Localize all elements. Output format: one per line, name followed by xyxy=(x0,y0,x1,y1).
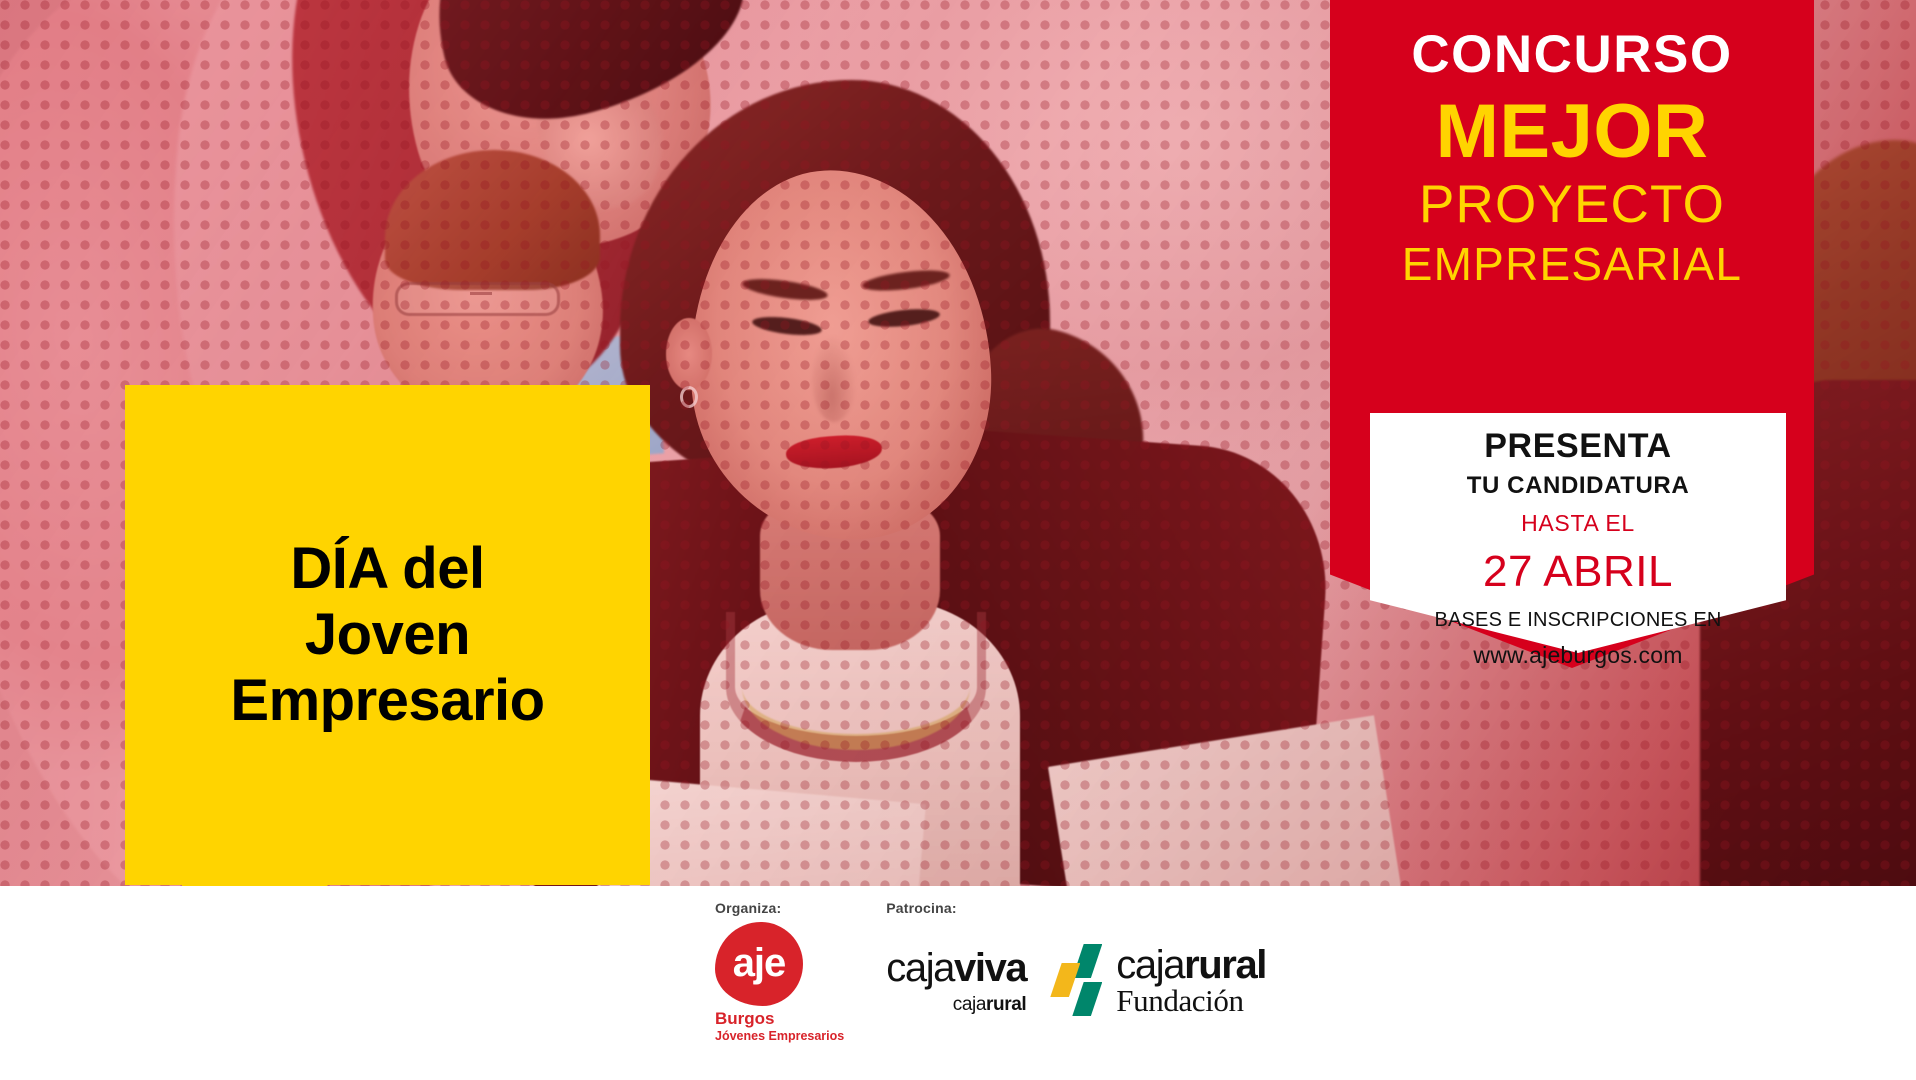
organizer-block: Organiza: aje Burgos Jóvenes Empresarios xyxy=(715,900,844,1044)
sponsor-logos: cajaviva cajarural xyxy=(886,922,1266,1018)
banner-concurso: CONCURSO xyxy=(1411,24,1732,85)
cajaviva-logo: cajaviva cajarural xyxy=(886,948,1026,1014)
card-presenta: PRESENTA xyxy=(1484,427,1671,466)
sponsor-block: Patrocina: cajaviva cajarural xyxy=(886,900,1266,1018)
event-title: DÍA del Joven Empresario xyxy=(125,385,650,885)
card-deadline-date: 27 ABRIL xyxy=(1483,547,1673,597)
cajarural-fundacion-label: Fundación xyxy=(1116,985,1266,1018)
cajaviva-wordmark: cajaviva xyxy=(886,948,1026,988)
card-candidatura: TU CANDIDATURA xyxy=(1467,472,1690,500)
leaf-chevron-green-bottom xyxy=(1072,982,1102,1016)
card-deadline-label: HASTA EL xyxy=(1521,510,1635,537)
sponsor-footer: Organiza: aje Burgos Jóvenes Empresarios… xyxy=(0,886,1916,1080)
cajarural-text: cajarural Fundación xyxy=(1116,945,1266,1018)
cajarural-leaf-icon xyxy=(1052,944,1104,1018)
card-website-link[interactable]: www.ajeburgos.com xyxy=(1473,642,1682,669)
cajaviva-subwordmark: cajarural xyxy=(953,995,1027,1014)
patrocina-label: Patrocina: xyxy=(886,900,1266,916)
call-to-action-content: PRESENTA TU CANDIDATURA HASTA EL 27 ABRI… xyxy=(1370,413,1786,653)
event-title-line3: Empresario xyxy=(230,668,544,734)
banner-proyecto: PROYECTO xyxy=(1419,178,1725,231)
cajaviva-caja: caja xyxy=(886,946,954,990)
sponsor-row: Organiza: aje Burgos Jóvenes Empresarios… xyxy=(715,900,1266,1044)
cajaviva-viva: viva xyxy=(954,946,1026,990)
event-title-line1: DÍA del xyxy=(290,536,484,602)
aje-logo-icon: aje xyxy=(715,922,803,1006)
leaf-chevron-gold xyxy=(1050,963,1080,997)
banner-mejor: MEJOR xyxy=(1436,94,1709,170)
banner-empresarial: EMPRESARIAL xyxy=(1402,241,1742,287)
aje-logo-text: aje xyxy=(733,943,786,983)
cajarural-wordmark: cajarural xyxy=(1116,945,1266,985)
aje-burgos-label: Burgos xyxy=(715,1010,775,1029)
poster: DÍA del Joven Empresario CONCURSO MEJOR … xyxy=(0,0,1916,1080)
cajaviva-sub-rural: rural xyxy=(986,994,1026,1015)
card-bases-label: BASES E INSCRIPCIONES EN xyxy=(1434,609,1721,632)
cajarural-fundacion-logo: cajarural Fundación xyxy=(1052,944,1266,1018)
organiza-label: Organiza: xyxy=(715,900,781,916)
cajaviva-sub-caja: caja xyxy=(953,994,986,1015)
cajarural-caja: caja xyxy=(1116,943,1184,987)
aje-tagline: Jóvenes Empresarios xyxy=(715,1029,844,1044)
event-title-line2: Joven xyxy=(305,602,470,668)
cajarural-rural: rural xyxy=(1184,943,1266,987)
